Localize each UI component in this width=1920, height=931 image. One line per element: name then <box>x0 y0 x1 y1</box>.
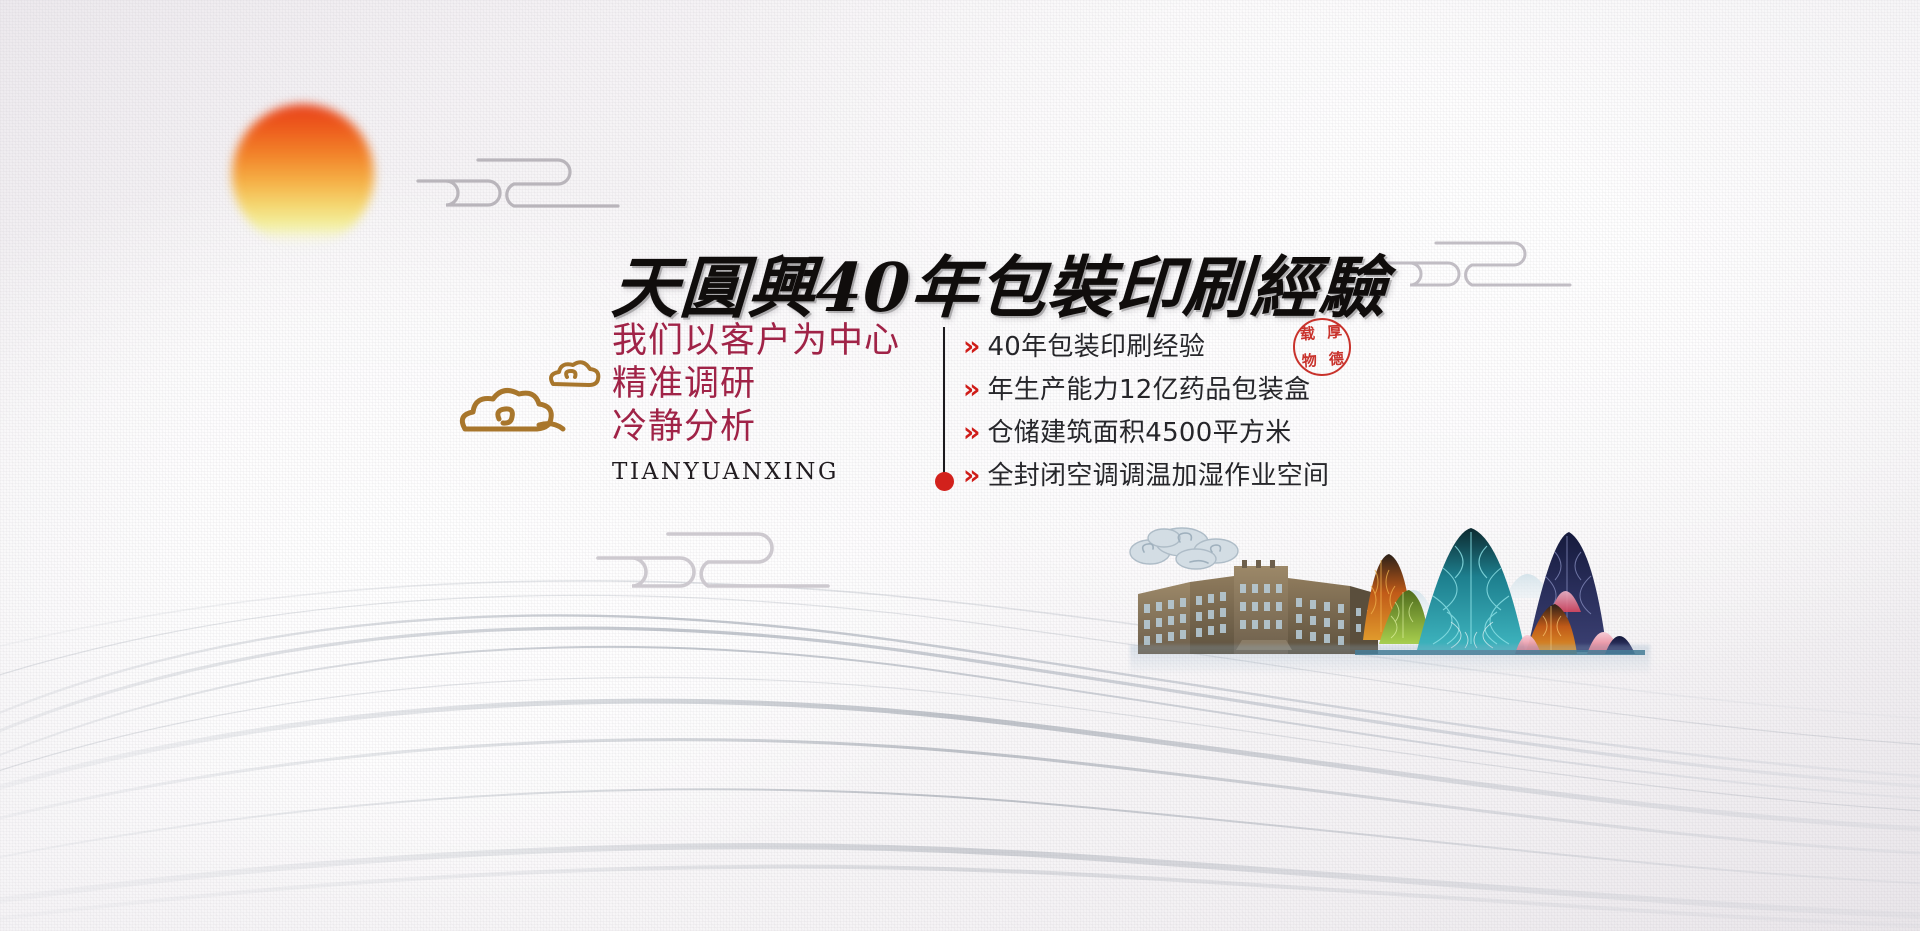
stylized-mountains-illustration <box>1355 512 1645 662</box>
chevron-right-icon: » <box>963 376 980 403</box>
vertical-divider <box>943 327 945 477</box>
list-item: » 40年包装印刷经验 <box>963 326 1329 364</box>
page-title: 天圓興40年包裝印刷經驗 <box>609 234 1389 331</box>
seal-char-2: 厚 <box>1327 325 1343 341</box>
brand-pinyin: TIANYUANXING <box>612 459 932 485</box>
water-reflection <box>1130 645 1650 673</box>
list-item: » 年生产能力12亿药品包装盒 <box>963 369 1329 407</box>
list-item-label: 仓储建筑面积4500平方米 <box>987 412 1291 449</box>
promo-banner: 天圓興40年包裝印刷經驗 我们以客户为中心 精准调研 冷静分析 TIANYUAN… <box>0 0 1920 931</box>
line-cloud-icon-top-left <box>418 148 618 216</box>
seal-char-3: 物 <box>1301 353 1317 369</box>
divider-dot <box>935 472 954 491</box>
chevron-right-icon: » <box>963 333 980 360</box>
chevron-right-icon: » <box>963 419 980 446</box>
rising-sun-icon <box>232 104 374 246</box>
slogan-line-1: 我们以客户为中心 <box>612 320 932 363</box>
list-item: » 仓储建筑面积4500平方米 <box>963 412 1329 450</box>
slogan-block: 我们以客户为中心 精准调研 冷静分析 TIANYUANXING <box>612 320 932 485</box>
line-cloud-icon-bottom-left <box>598 520 828 596</box>
slogan-line-2: 精准调研 <box>612 363 932 406</box>
feature-list: » 40年包装印刷经验 » 年生产能力12亿药品包装盒 » 仓储建筑面积4500… <box>963 326 1329 498</box>
seal-char-4: 德 <box>1328 352 1344 368</box>
chevron-right-icon: » <box>963 462 980 489</box>
seal-char-1: 载 <box>1300 326 1316 342</box>
list-item-label: 年生产能力12亿药品包装盒 <box>987 369 1310 406</box>
list-item: » 全封闭空调调温加湿作业空间 <box>963 455 1329 493</box>
slogan-line-3: 冷静分析 <box>612 406 932 449</box>
list-item-label: 40年包装印刷经验 <box>987 326 1205 363</box>
line-cloud-icon-right <box>1380 232 1570 296</box>
gold-cloud-icon-small <box>545 358 609 395</box>
list-item-label: 全封闭空调调温加湿作业空间 <box>987 455 1329 492</box>
